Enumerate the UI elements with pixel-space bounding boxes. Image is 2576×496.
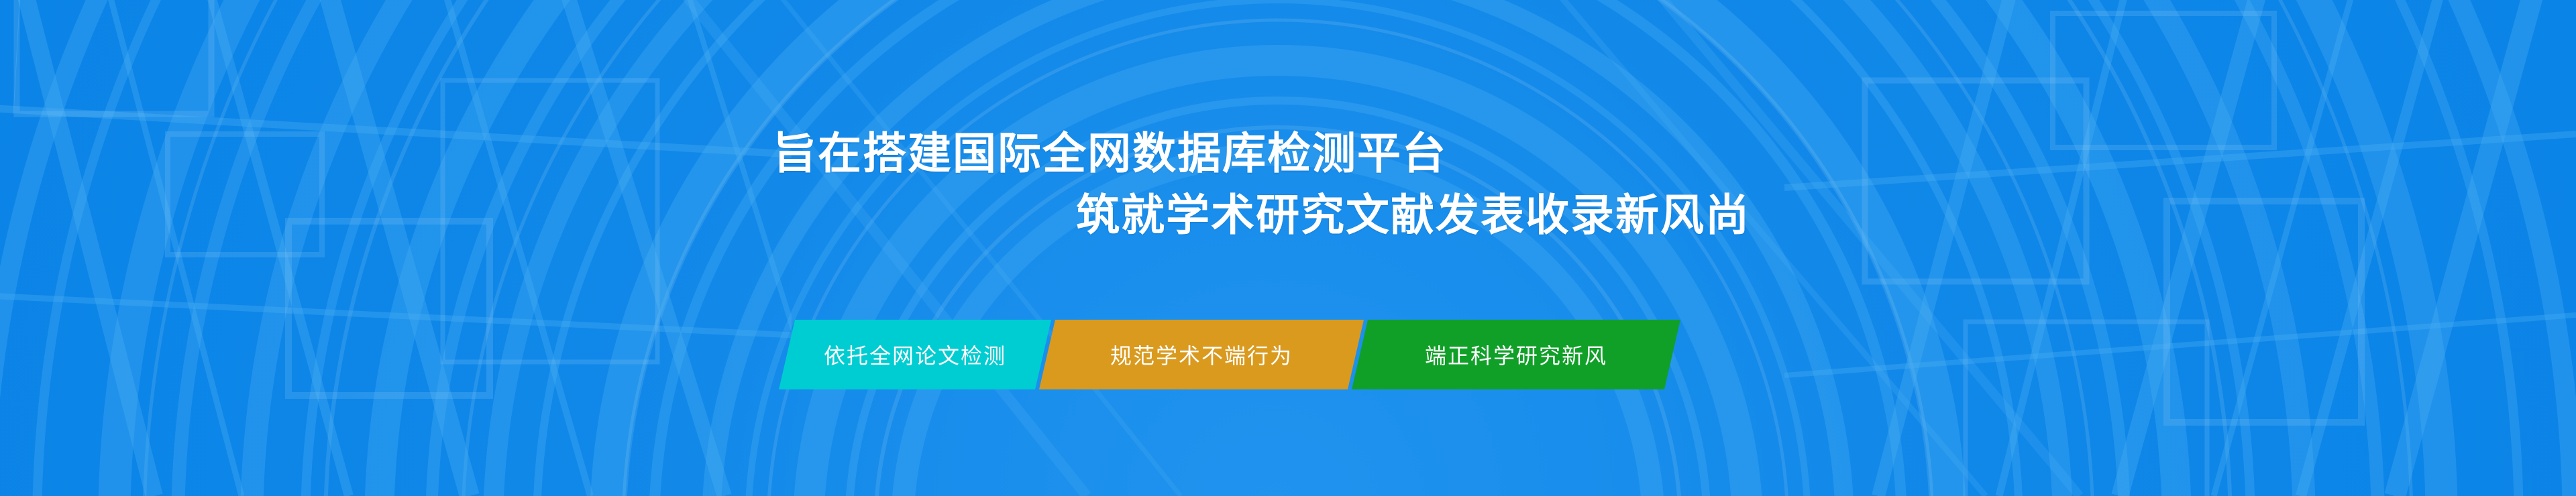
feature-tag-misconduct-label: 规范学术不端行为 xyxy=(1110,339,1293,370)
promo-banner: 旨在搭建国际全网数据库检测平台 筑就学术研究文献发表收录新风尚 依托全网论文检测… xyxy=(0,0,2576,496)
background-arcs-decoration xyxy=(0,0,2576,496)
headline-line-2: 筑就学术研究文献发表收录新风尚 xyxy=(1076,189,1750,241)
headline-line-1: 旨在搭建国际全网数据库检测平台 xyxy=(773,127,1447,180)
feature-tag-detection[interactable]: 依托全网论文检测 xyxy=(779,320,1051,389)
feature-tag-research-ethos-label: 端正科学研究新风 xyxy=(1425,339,1607,370)
feature-tag-research-ethos[interactable]: 端正科学研究新风 xyxy=(1352,320,1680,389)
feature-tag-detection-label: 依托全网论文检测 xyxy=(824,339,1006,370)
feature-tag-misconduct[interactable]: 规范学术不端行为 xyxy=(1039,320,1364,389)
feature-tag-strip: 依托全网论文检测 规范学术不端行为 端正科学研究新风 xyxy=(778,320,1672,389)
background-grid-decoration xyxy=(0,0,2576,496)
